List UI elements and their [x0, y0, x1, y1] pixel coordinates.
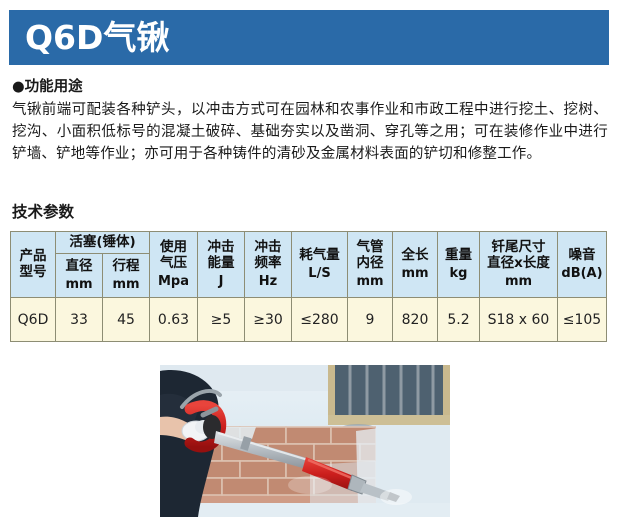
col-unit-air-consumption: L/S — [292, 266, 347, 281]
col-unit-shank-size: mm — [480, 274, 557, 289]
col-unit-impact-energy: J — [198, 274, 244, 289]
col-unit-weight: kg — [438, 266, 479, 281]
col-header-hose-diameter-line1: 气管 — [348, 240, 392, 256]
col-header-shank-size: 钎尾尺寸 直径x长度 mm — [480, 232, 558, 298]
col-header-piston-group: 活塞(锤体) — [56, 232, 150, 254]
col-unit-piston-stroke: mm — [103, 277, 149, 292]
col-header-impact-frequency-line2: 频率 — [245, 256, 291, 272]
col-header-model: 产品 型号 — [11, 232, 56, 298]
cell-impact-energy: ≥5 — [198, 298, 245, 342]
col-unit-impact-frequency: Hz — [245, 274, 291, 289]
col-unit-air-pressure: Mpa — [150, 274, 197, 289]
col-header-piston-stroke-line1: 行程 — [103, 259, 149, 275]
product-usage-photo — [160, 365, 450, 517]
cell-hose-inner-diameter: 9 — [348, 298, 393, 342]
col-header-air-pressure: 使用 气压 Mpa — [150, 232, 198, 298]
col-header-noise: 噪音 dB(A) — [558, 232, 607, 298]
cell-model: Q6D — [11, 298, 56, 342]
cell-piston-stroke: 45 — [103, 298, 150, 342]
col-header-air-pressure-line2: 气压 — [150, 256, 197, 272]
spec-table-container: 产品 型号 活塞(锤体) 使用 气压 Mpa 冲击 能量 J 冲击 频率 H — [10, 231, 606, 342]
cell-noise: ≤105 — [558, 298, 607, 342]
col-header-model-line1: 产品 — [11, 249, 55, 265]
col-header-hose-diameter-line2: 内径 — [348, 256, 392, 272]
col-header-air-pressure-line1: 使用 — [150, 240, 197, 256]
col-header-impact-energy-line1: 冲击 — [198, 240, 244, 256]
col-header-impact-frequency: 冲击 频率 Hz — [245, 232, 292, 298]
table-row: Q6D 33 45 0.63 ≥5 ≥30 ≤280 9 820 5.2 S18… — [11, 298, 607, 342]
product-title-bar: Q6D气锹 — [9, 10, 609, 65]
cell-shank-size: S18 x 60 — [480, 298, 558, 342]
col-header-piston-stroke: 行程 mm — [103, 254, 150, 298]
col-header-hose-diameter: 气管 内径 mm — [348, 232, 393, 298]
product-photo-illustration — [160, 365, 450, 517]
spec-section-heading: 技术参数 — [12, 205, 74, 221]
page-title: Q6D气锹 — [9, 21, 169, 54]
col-header-total-length-line1: 全长 — [393, 248, 437, 264]
col-unit-piston-diameter: mm — [56, 277, 102, 292]
col-header-shank-size-line2: 直径x长度 — [480, 256, 557, 272]
col-header-weight-line1: 重量 — [438, 248, 479, 264]
col-header-air-consumption-line1: 耗气量 — [292, 248, 347, 264]
col-header-weight: 重量 kg — [438, 232, 480, 298]
col-header-air-consumption: 耗气量 L/S — [292, 232, 348, 298]
cell-air-pressure: 0.63 — [150, 298, 198, 342]
cell-total-length: 820 — [393, 298, 438, 342]
col-header-noise-line1: 噪音 — [558, 248, 606, 264]
col-header-piston-diameter: 直径 mm — [56, 254, 103, 298]
col-header-piston-diameter-line1: 直径 — [56, 259, 102, 275]
function-usage-heading: ●功能用途 — [12, 78, 608, 98]
cell-piston-diameter: 33 — [56, 298, 103, 342]
cell-air-consumption: ≤280 — [292, 298, 348, 342]
cell-impact-frequency: ≥30 — [245, 298, 292, 342]
col-unit-hose-diameter: mm — [348, 274, 392, 289]
function-usage-text: 气锹前端可配装各种铲头，以冲击方式可在园林和农事作业和市政工程中进行挖土、挖树、… — [12, 99, 608, 165]
function-usage-section: ●功能用途 气锹前端可配装各种铲头，以冲击方式可在园林和农事作业和市政工程中进行… — [12, 78, 608, 165]
col-header-impact-frequency-line1: 冲击 — [245, 240, 291, 256]
col-header-total-length: 全长 mm — [393, 232, 438, 298]
col-header-model-line2: 型号 — [11, 265, 55, 281]
col-header-impact-energy-line2: 能量 — [198, 256, 244, 272]
col-header-impact-energy: 冲击 能量 J — [198, 232, 245, 298]
col-unit-total-length: mm — [393, 266, 437, 281]
col-header-shank-size-line1: 钎尾尺寸 — [480, 240, 557, 256]
cell-weight: 5.2 — [438, 298, 480, 342]
table-header-row-top: 产品 型号 活塞(锤体) 使用 气压 Mpa 冲击 能量 J 冲击 频率 H — [11, 232, 607, 254]
specification-table: 产品 型号 活塞(锤体) 使用 气压 Mpa 冲击 能量 J 冲击 频率 H — [10, 231, 607, 342]
col-unit-noise: dB(A) — [558, 266, 606, 281]
